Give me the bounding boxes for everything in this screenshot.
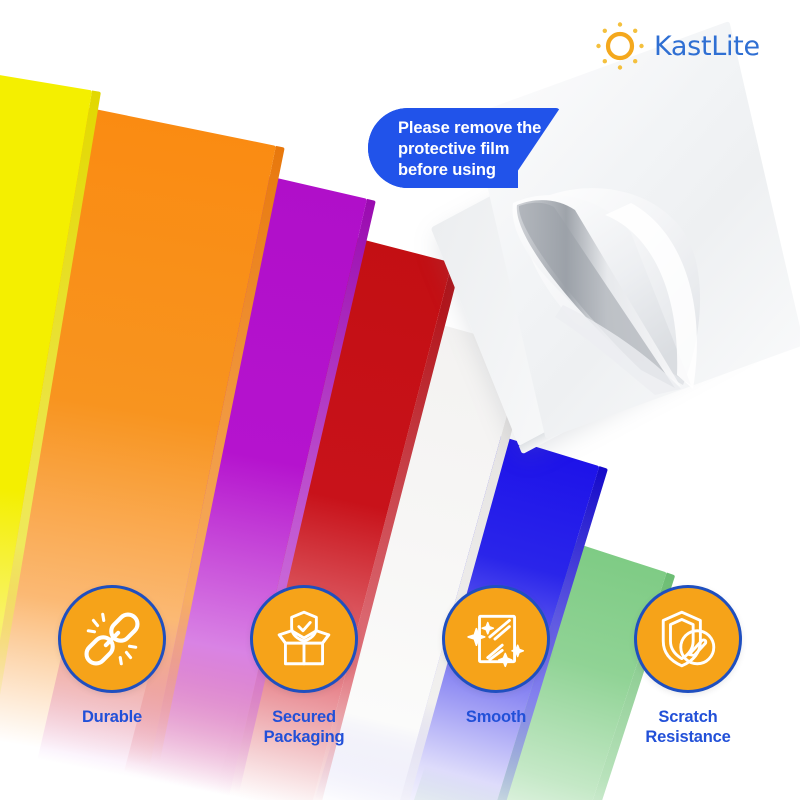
feature-circle-scratch-resistance [634, 585, 742, 693]
feature-circle-durable [58, 585, 166, 693]
feature-secured-packaging: Secured Packaging [229, 585, 379, 785]
sparkle-panel-icon [463, 606, 529, 672]
feature-durable: Durable [37, 585, 187, 785]
shield-blade-icon [655, 606, 721, 672]
chain-link-icon [79, 606, 145, 672]
feature-badge-row: Durable Secured Packaging [0, 585, 800, 785]
feature-label-secured-packaging: Secured Packaging [264, 707, 345, 747]
feature-label-durable: Durable [82, 707, 142, 727]
feature-circle-smooth [442, 585, 550, 693]
brand-name: KastLite [654, 31, 760, 62]
feature-label-smooth: Smooth [466, 707, 526, 727]
brand-logo: KastLite [592, 18, 760, 74]
feature-smooth: Smooth [421, 585, 571, 785]
feature-label-scratch-resistance: Scratch Resistance [645, 707, 730, 747]
callout-text: Please remove the protective film before… [398, 118, 588, 181]
sun-icon [592, 18, 648, 74]
shield-box-icon [271, 606, 337, 672]
feature-scratch-resistance: Scratch Resistance [613, 585, 763, 785]
product-infographic: Please remove the protective film before… [0, 0, 800, 800]
feature-circle-secured-packaging [250, 585, 358, 693]
